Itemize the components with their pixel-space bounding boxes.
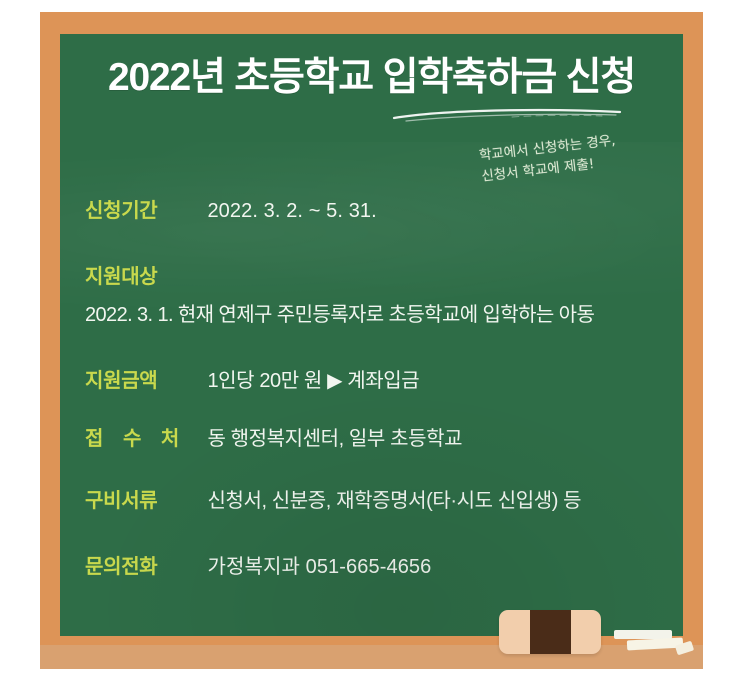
info-row-phone: 문의전화 가정복지과 051-665-4656 [85, 550, 683, 579]
value-documents: 신청서, 신분증, 재학증명서(타·시도 신입생) 등 [207, 484, 581, 513]
chalkboard-surface: 2022년 초등학교 입학축하금 신청 학교에서 신청하는 경우, 신청서 학교… [60, 34, 683, 636]
value-office: 동 행정복지센터, 일부 초등학교 [207, 422, 462, 451]
label-period: 신청기간 [85, 194, 203, 223]
info-row-documents: 구비서류 신청서, 신분증, 재학증명서(타·시도 신입생) 등 [85, 484, 683, 513]
label-office: 접 수 처 [85, 422, 203, 451]
label-target: 지원대상 [85, 260, 157, 289]
eraser-icon [499, 610, 601, 654]
info-row-target-label: 지원대상 [85, 260, 683, 289]
eraser-band [530, 610, 571, 654]
value-target: 2022. 3. 1. 현재 연제구 주민등록자로 초등학교에 입학하는 아동 [85, 298, 683, 327]
info-row-office: 접 수 처 동 행정복지센터, 일부 초등학교 [85, 422, 683, 451]
value-phone: 가정복지과 051-665-4656 [207, 550, 431, 579]
value-period: 2022. 3. 2. ~ 5. 31. [207, 200, 376, 223]
label-documents: 구비서류 [85, 484, 203, 513]
handwritten-memo: 학교에서 신청하는 경우, 신청서 학교에 제출! [478, 123, 681, 187]
value-amount: 1인당 20만 원 ▶ 계좌입금 [207, 364, 419, 393]
poster-title-area: 2022년 초등학교 입학축하금 신청 [60, 58, 683, 97]
title-underline-icon [392, 106, 624, 122]
info-row-target-value: 2022. 3. 1. 현재 연제구 주민등록자로 초등학교에 입학하는 아동 [85, 298, 683, 327]
poster-root: 2022년 초등학교 입학축하금 신청 학교에서 신청하는 경우, 신청서 학교… [0, 0, 743, 682]
label-phone: 문의전화 [85, 550, 203, 579]
chalk-ledge [40, 645, 703, 669]
label-amount: 지원금액 [85, 364, 203, 393]
info-row-amount: 지원금액 1인당 20만 원 ▶ 계좌입금 [85, 364, 683, 393]
info-row-period: 신청기간 2022. 3. 2. ~ 5. 31. [85, 194, 683, 223]
page-title: 2022년 초등학교 입학축하금 신청 [108, 58, 635, 97]
